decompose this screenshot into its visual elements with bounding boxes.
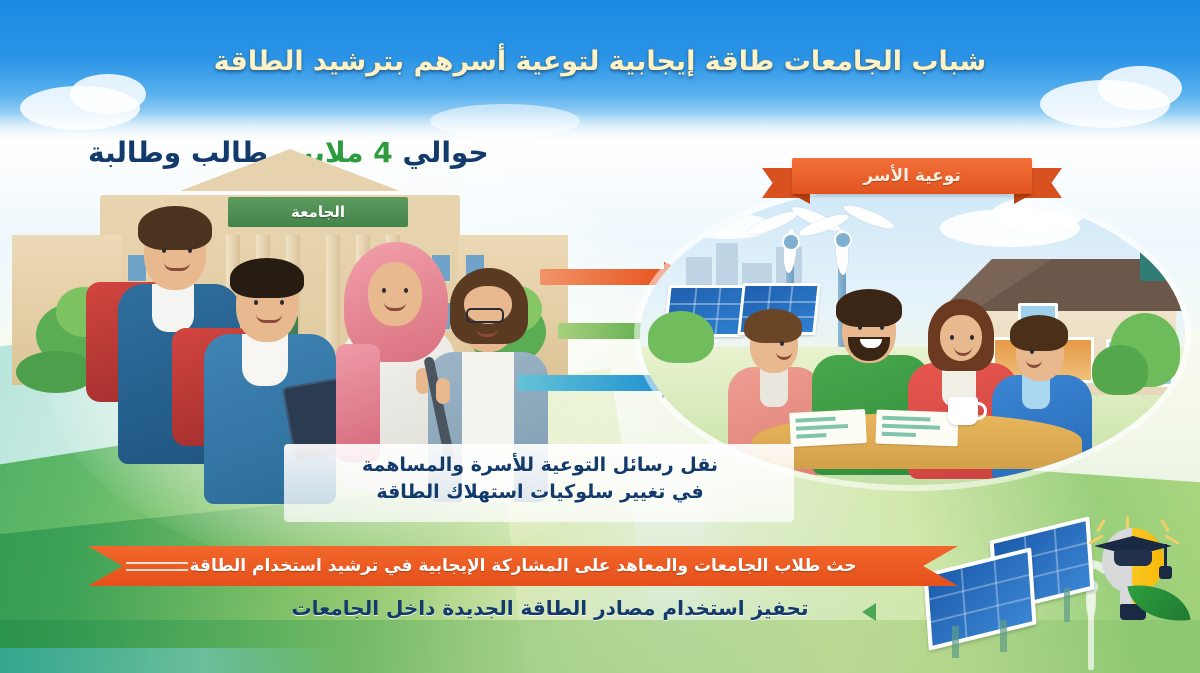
infographic-poster: شباب الجامعات طاقة إيجابية لتوعية أسرهم …: [0, 0, 1200, 673]
ribbon-banner-family-awareness: توعية الأسر: [762, 158, 1062, 198]
ribbon-label: توعية الأسر: [863, 166, 961, 186]
graduation-cap-base: [1114, 550, 1152, 566]
university-sign-label: الجامعة: [291, 203, 345, 221]
eye-icon: [1030, 349, 1034, 354]
student-head: [368, 262, 422, 326]
turbine-hub: [782, 233, 800, 251]
document-icon: [875, 410, 958, 447]
teal-bottom-strip: [0, 648, 340, 673]
person-hair: [836, 289, 902, 327]
person-collar: [760, 367, 788, 407]
graduation-tassel-knot: [1159, 566, 1172, 579]
logo-ray: [1088, 534, 1103, 545]
document-icon: [789, 409, 867, 447]
panel-leg: [1064, 588, 1070, 622]
panel-leg: [952, 626, 959, 658]
eye-icon: [254, 300, 258, 305]
graduation-bulb-leaf-logo-icon: [1078, 522, 1188, 642]
eye-icon: [404, 288, 408, 293]
eye-icon: [858, 325, 862, 330]
caption-line-2: في تغيير سلوكيات استهلاك الطاقة: [300, 479, 780, 506]
leaf-icon: [1127, 578, 1190, 628]
building-pediment: [180, 149, 400, 191]
coffee-cup-icon: [948, 397, 978, 425]
eye-icon: [780, 341, 784, 346]
chimney-icon: [1140, 247, 1166, 281]
thumbs-up-icon: [436, 378, 450, 404]
play-triangle-green-icon: [862, 603, 876, 621]
eye-icon: [382, 288, 386, 293]
orange-banner-label: حث طلاب الجامعات والمعاهد على المشاركة ا…: [88, 546, 958, 586]
eye-icon: [162, 248, 166, 253]
student-hair: [138, 206, 212, 250]
page-title: شباب الجامعات طاقة إيجابية لتوعية أسرهم …: [0, 46, 1200, 77]
eye-icon: [188, 248, 192, 253]
family-awareness-scene: [640, 185, 1185, 485]
eye-icon: [950, 335, 954, 340]
bush-icon: [16, 351, 96, 393]
person-hair: [1010, 315, 1068, 351]
panel-leg: [1000, 620, 1007, 652]
caption-message-transfer: نقل رسائل التوعية للأسرة والمساهمة في تغ…: [300, 452, 780, 506]
ribbon-main: توعية الأسر: [792, 158, 1032, 194]
graduation-tassel: [1164, 544, 1167, 568]
bottom-line-text: تحفيز استخدام مصادر الطاقة الجديدة داخل …: [240, 596, 860, 620]
eye-icon: [970, 335, 974, 340]
person-hair: [744, 309, 802, 343]
orange-banner-encourage-students: حث طلاب الجامعات والمعاهد على المشاركة ا…: [88, 546, 958, 586]
caption-line-1: نقل رسائل التوعية للأسرة والمساهمة: [300, 452, 780, 479]
glasses-icon: [466, 308, 504, 323]
eye-icon: [280, 300, 284, 305]
eye-icon: [880, 325, 884, 330]
subtitle-prefix: حوالي: [393, 136, 489, 169]
student-collar: [152, 284, 194, 332]
turbine-hub: [834, 231, 852, 249]
cloud-icon: [70, 74, 146, 114]
bush-icon: [1092, 345, 1148, 395]
bush-icon: [648, 311, 714, 363]
cloud-icon: [992, 197, 1084, 231]
student-hair: [230, 258, 304, 298]
